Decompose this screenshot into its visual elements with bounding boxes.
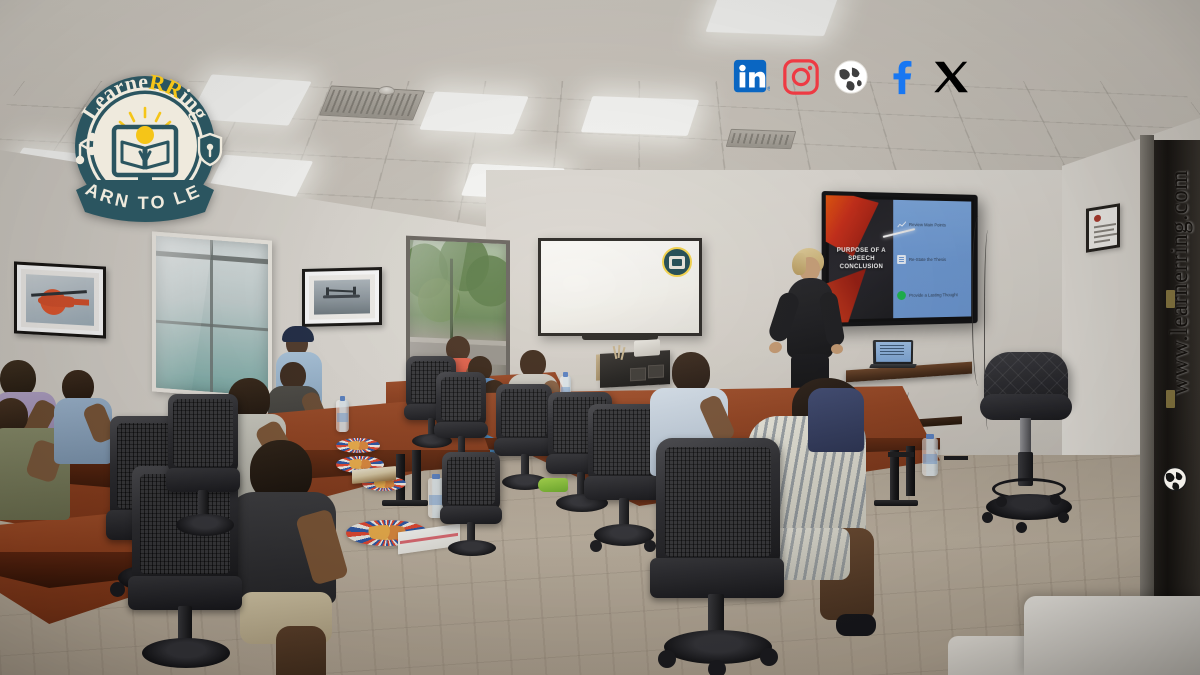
aircraft-image: [314, 279, 370, 314]
drafting-stool: [976, 352, 1080, 532]
website-url: www.learnerring.com: [1166, 170, 1194, 395]
presentation-slide: PURPOSE OF A SPEECH CONCLUSION Review Ma…: [829, 198, 971, 319]
water-bottle: [336, 400, 349, 432]
slide-bullet: Provide a Lasting Thought: [897, 290, 967, 300]
slide-bullet: Review Main Points: [897, 220, 967, 230]
table-leg: [890, 450, 899, 506]
x-twitter-icon[interactable]: [932, 58, 970, 96]
task-chair: [166, 394, 242, 544]
table-leg: [412, 450, 421, 500]
student: [808, 388, 872, 478]
ceiling-light-panel: [581, 96, 699, 136]
learnerring-logo: LearneRRing: [64, 72, 226, 230]
helicopter-image: [26, 274, 94, 326]
chart-icon: [897, 220, 906, 229]
laptop: [870, 340, 916, 370]
ceiling-vent: [726, 129, 797, 149]
interior-glass-window: [152, 231, 272, 400]
cap-icon: [282, 326, 314, 342]
green-dot-icon: [897, 291, 906, 300]
table-crossbar: [888, 452, 914, 457]
framed-certificate: [1086, 203, 1120, 252]
door-jamb: [1140, 135, 1154, 605]
ceiling-vent: [319, 85, 425, 120]
smoke-detector-icon: [378, 86, 395, 95]
social-links-bar[interactable]: ®: [732, 58, 970, 96]
whiteboard: [538, 238, 702, 336]
ceiling-light-panel: [705, 0, 838, 36]
framed-aircraft-photo: [302, 267, 382, 327]
task-chair: [650, 438, 786, 668]
table-foot: [874, 500, 918, 506]
water-bottle: [922, 438, 938, 476]
classroom-photo: PURPOSE OF A SPEECH CONCLUSION Review Ma…: [0, 0, 1200, 675]
shoe: [538, 478, 568, 492]
document-icon: [897, 255, 906, 264]
slide-bullet-text: Provide a Lasting Thought: [909, 292, 958, 298]
svg-text:®: ®: [767, 85, 770, 92]
shoe: [836, 614, 876, 636]
instagram-icon[interactable]: [782, 58, 820, 96]
ceiling-light-panel: [419, 91, 528, 134]
slide-bullet-text: Review Main Points: [909, 222, 946, 228]
linkedin-icon[interactable]: ®: [732, 58, 770, 96]
globe-icon: [1162, 466, 1188, 492]
task-chair: [440, 452, 504, 562]
student: [228, 440, 348, 675]
whiteboard-logo-icon: [662, 247, 692, 277]
framed-helicopter-photo: [14, 261, 106, 338]
website-globe-icon[interactable]: [832, 58, 870, 96]
slide-bullet: Re-State the Thesis: [897, 255, 967, 264]
table-foot: [382, 500, 428, 506]
facebook-icon[interactable]: [882, 58, 920, 96]
slide-bullet-text: Re-State the Thesis: [909, 257, 946, 262]
furniture-corner: [1024, 596, 1200, 675]
slide-bullets-panel: Review Main Points Re-State the Thesis P…: [893, 200, 971, 318]
whiteboard-marker-tray: [582, 333, 658, 340]
